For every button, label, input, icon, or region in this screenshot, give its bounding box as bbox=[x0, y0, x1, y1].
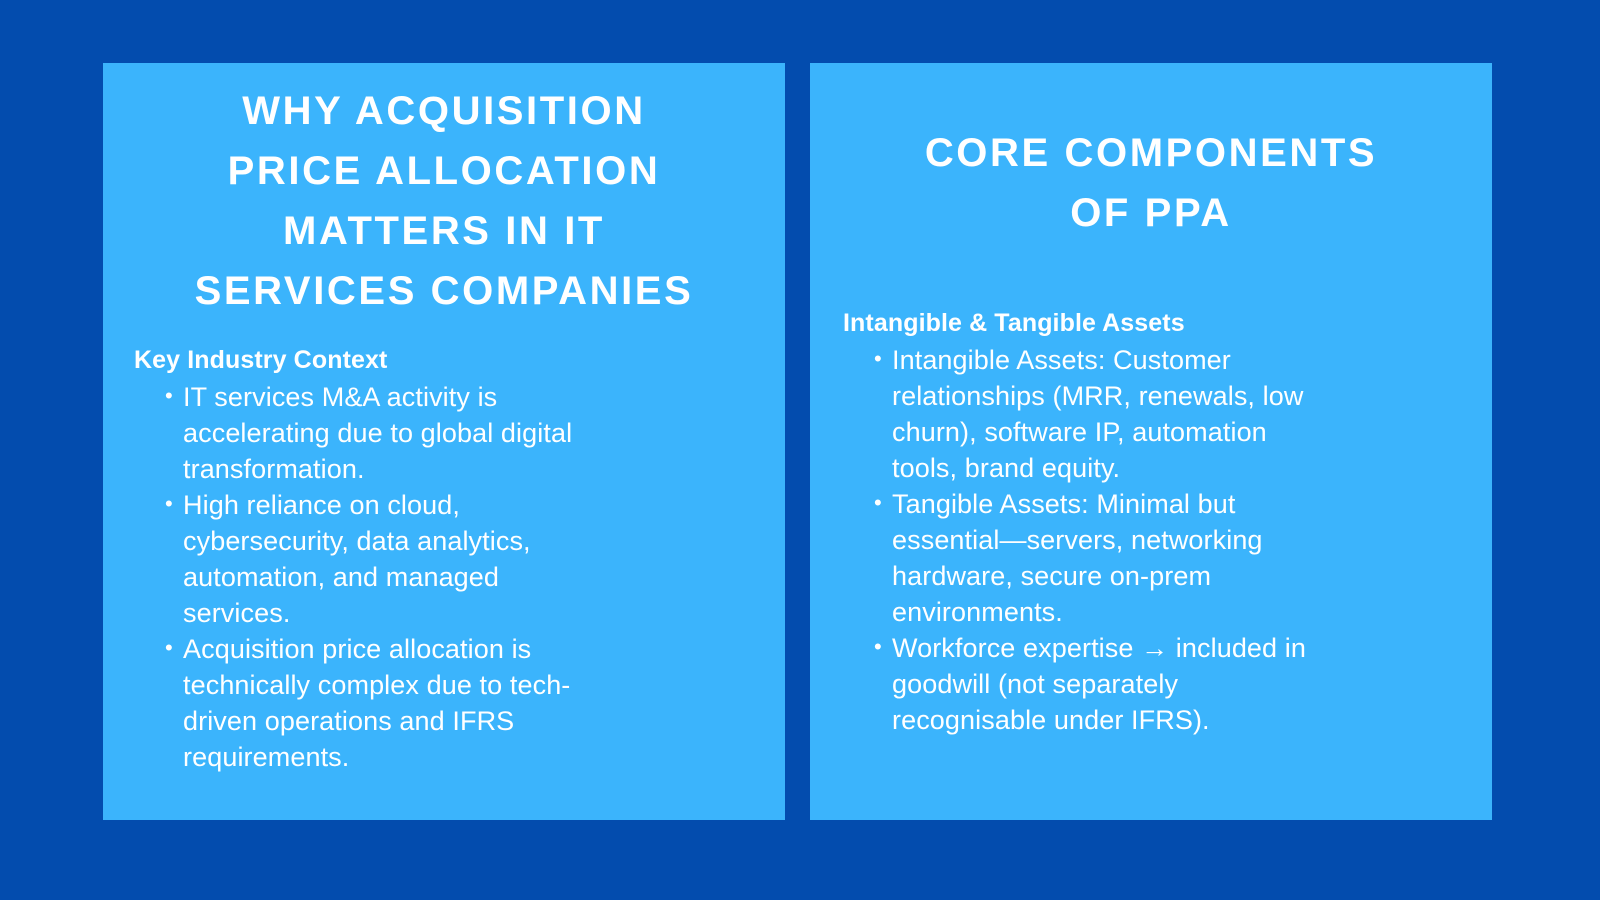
panel-core-components: Core Components of PPA Intangible & Tang… bbox=[810, 63, 1492, 820]
panel-title-why-ppa-matters: Why Acquisition Price Allocation Matters… bbox=[103, 63, 785, 321]
list-item: Tangible Assets: Minimal but essential—s… bbox=[874, 486, 1492, 630]
panel-body-why-ppa-matters: Key Industry Context IT services M&A act… bbox=[103, 321, 785, 775]
slide-canvas: Why Acquisition Price Allocation Matters… bbox=[0, 0, 1600, 900]
subheading-intangible-tangible-assets: Intangible & Tangible Assets bbox=[843, 306, 1492, 340]
bullet-list-key-industry-context: IT services M&A activity is accelerating… bbox=[134, 379, 785, 775]
panel-body-core-components: Intangible & Tangible Assets Intangible … bbox=[810, 243, 1492, 738]
list-item: IT services M&A activity is accelerating… bbox=[165, 379, 785, 487]
list-item: High reliance on cloud, cybersecurity, d… bbox=[165, 487, 785, 631]
subheading-key-industry-context: Key Industry Context bbox=[134, 343, 785, 377]
list-item: Intangible Assets: Customer relationship… bbox=[874, 342, 1492, 486]
list-item: Workforce expertise → included in goodwi… bbox=[874, 630, 1492, 738]
panel-why-ppa-matters: Why Acquisition Price Allocation Matters… bbox=[103, 63, 785, 820]
bullet-list-intangible-tangible-assets: Intangible Assets: Customer relationship… bbox=[843, 342, 1492, 738]
panel-title-core-components: Core Components of PPA bbox=[810, 63, 1492, 243]
list-item: Acquisition price allocation is technica… bbox=[165, 631, 785, 775]
